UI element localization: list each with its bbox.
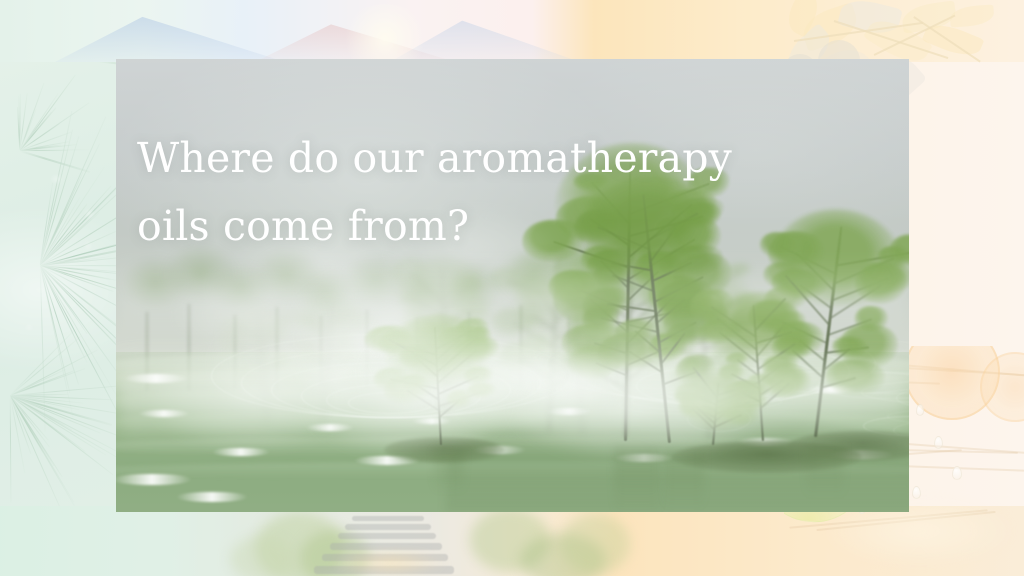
stone-step-icon: [338, 533, 436, 539]
leaf-icon: [949, 4, 994, 27]
path-glow: [330, 548, 450, 576]
water-droplet-icon: [952, 466, 962, 480]
tree: [712, 383, 719, 445]
tree: [322, 301, 333, 425]
tree-canopy: [224, 302, 294, 356]
tree-leaf-clump: [338, 371, 365, 389]
tree-leaf-clump: [268, 354, 293, 372]
page-title: Where do our aromatherapy oils come from…: [137, 124, 757, 260]
tree-leaf-clump: [296, 348, 327, 365]
tree: [434, 327, 442, 445]
bokeh-speck: [52, 176, 61, 182]
tree-leaf-clump: [446, 389, 473, 407]
stone-step-icon: [345, 524, 431, 530]
bokeh-speck: [86, 211, 93, 217]
pine-stem-icon: [20, 150, 91, 173]
slide-canvas: Where do our aromatherapy oils come from…: [0, 0, 1024, 576]
pine-needle-icon: [9, 396, 11, 503]
tree-reflection: [434, 449, 464, 493]
water-droplet-icon: [916, 404, 924, 416]
mountain-silhouette-icon: [55, 14, 285, 62]
tree: [814, 226, 842, 437]
bokeh-speck: [27, 326, 31, 329]
pine-needle-icon: [10, 395, 114, 475]
tree-reflection: [614, 445, 660, 512]
tree: [257, 313, 268, 421]
tree-reflection: [664, 447, 704, 509]
water-droplet-icon: [934, 436, 943, 449]
bokeh-speck: [86, 243, 90, 249]
foliage-blob-icon: [230, 536, 294, 576]
stone-step-icon: [352, 516, 424, 521]
tree-reflection: [806, 443, 844, 497]
pine-needle-icon: [10, 336, 82, 397]
foliage-blob-icon: [560, 514, 630, 574]
